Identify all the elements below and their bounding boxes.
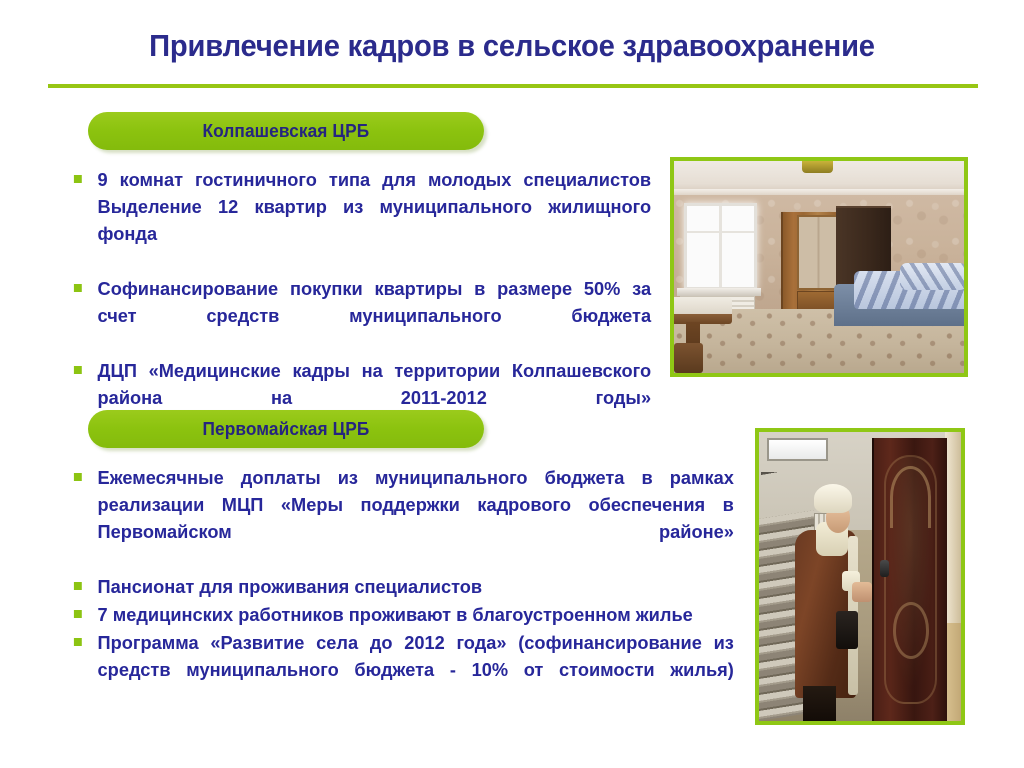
list-item-text: Пансионат для проживания специалистов: [98, 573, 734, 600]
title-divider: [48, 84, 978, 88]
square-bullet-icon: [74, 610, 82, 618]
wooden-wardrobe: [781, 212, 841, 314]
banner-label: Первомайская ЦРБ: [203, 419, 370, 440]
list-item: Софинансирование покупки квартиры в разм…: [68, 275, 651, 356]
list-item-text: 9 комнат гостиничного типа для молодых с…: [98, 166, 652, 274]
bullet-list-kolpashevo: 9 комнат гостиничного типа для молодых с…: [68, 166, 660, 439]
list-item: 7 медицинских работников проживают в бла…: [68, 601, 734, 628]
list-item: Пансионат для проживания специалистов: [68, 573, 734, 600]
square-bullet-icon: [74, 175, 82, 183]
section-banner-kolpashevo: Колпашевская ЦРБ: [88, 112, 484, 150]
door-ornament-arc: [890, 466, 931, 528]
page-title: Привлечение кадров в сельское здравоохра…: [31, 28, 994, 64]
photo-door-artwork: [759, 432, 961, 721]
list-item-text: Ежемесячные доплаты из муниципального бю…: [98, 464, 734, 572]
person-legs: [803, 686, 835, 721]
door-handle-icon: [880, 560, 889, 577]
person-bag: [836, 611, 858, 649]
photo-woman-at-door: [755, 428, 965, 725]
square-bullet-icon: [74, 284, 82, 292]
bullet-list-pervomaisk: Ежемесячные доплаты из муниципального бю…: [68, 464, 744, 711]
stairwell-window: [767, 438, 828, 461]
sofa-bed-pillow: [900, 263, 964, 291]
list-item-text: Программа «Развитие села до 2012 года» (…: [98, 629, 734, 710]
square-bullet-icon: [74, 638, 82, 646]
list-item: 9 комнат гостиничного типа для молодых с…: [68, 166, 651, 274]
door-ornament-oval: [893, 602, 929, 659]
list-item-text: Софинансирование покупки квартиры в разм…: [98, 275, 652, 356]
list-item-text: 7 медицинских работников проживают в бла…: [98, 601, 734, 628]
room-table: [674, 297, 732, 325]
room-chair: [674, 343, 703, 373]
banner-label: Колпашевская ЦРБ: [203, 121, 370, 142]
window-sill: [677, 288, 761, 295]
room-window: [684, 203, 757, 290]
square-bullet-icon: [74, 473, 82, 481]
list-item: Программа «Развитие села до 2012 года» (…: [68, 629, 734, 710]
person-hat: [814, 484, 852, 513]
wardrobe-doors: [797, 215, 840, 290]
section-banner-pervomaisk: Первомайская ЦРБ: [88, 410, 484, 448]
person-hand: [852, 582, 872, 602]
photo-room-interior: [670, 157, 968, 377]
ceiling-lamp-icon: [802, 161, 834, 173]
square-bullet-icon: [74, 582, 82, 590]
entrance-door: [872, 438, 947, 721]
list-item: Ежемесячные доплаты из муниципального бю…: [68, 464, 734, 572]
door-jamb-lower: [945, 623, 961, 721]
square-bullet-icon: [74, 366, 82, 374]
photo-room-artwork: [674, 161, 964, 373]
